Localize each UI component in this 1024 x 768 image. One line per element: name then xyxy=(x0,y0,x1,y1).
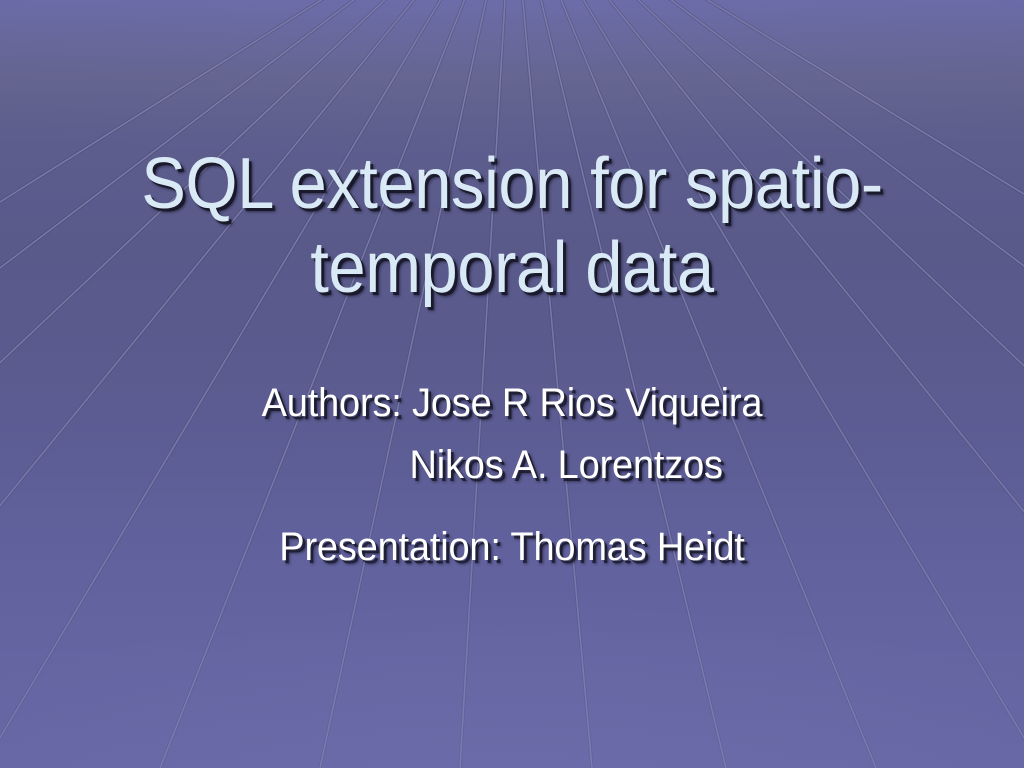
authors-line-2: Nikos A. Lorentzos xyxy=(26,434,999,496)
slide-body: Authors: Jose R Rios Viqueira Nikos A. L… xyxy=(0,372,1024,578)
slide-content: SQL extension for spatio- temporal data … xyxy=(0,0,1024,768)
slide-title: SQL extension for spatio- temporal data xyxy=(0,142,1024,310)
authors-line-1: Authors: Jose R Rios Viqueira xyxy=(26,372,999,434)
slide-title-line-2: temporal data xyxy=(36,226,988,310)
presentation-slide: SQL extension for spatio- temporal data … xyxy=(0,0,1024,768)
slide-title-line-1: SQL extension for spatio- xyxy=(36,142,988,226)
presenter-line: Presentation: Thomas Heidt xyxy=(26,516,999,578)
